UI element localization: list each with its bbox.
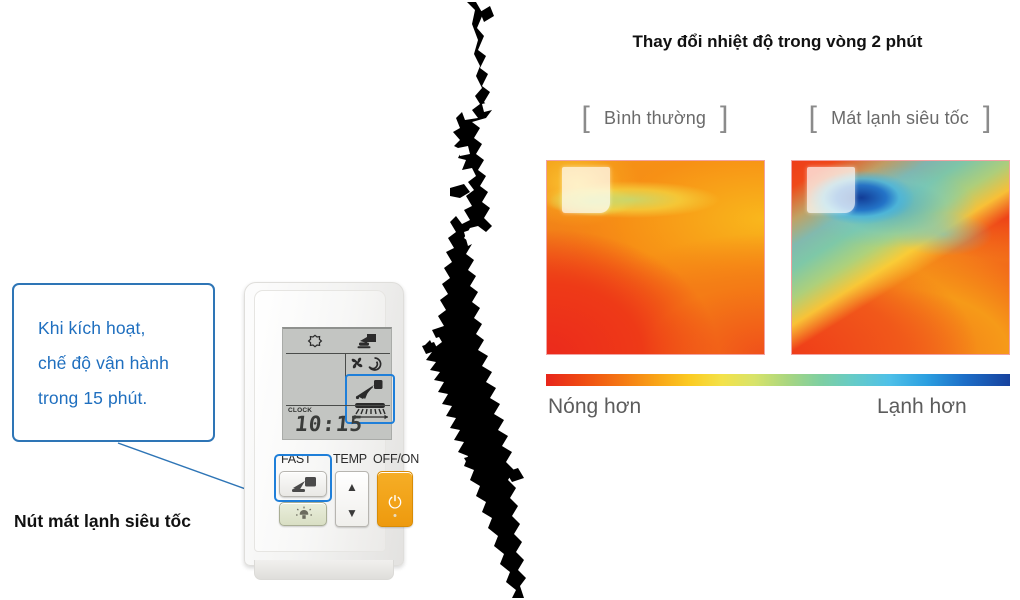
- temp-button[interactable]: ▲ ▼: [335, 471, 369, 527]
- bracket-right-icon: ]: [983, 103, 991, 133]
- snowflake-cool-icon: [307, 334, 323, 350]
- heatmap-fastcool: [791, 160, 1010, 355]
- temp-label: TEMP: [333, 452, 367, 466]
- colorbar-label-cold: Lạnh hơn: [877, 395, 967, 419]
- callout-line-2: chế độ vận hành: [38, 346, 213, 381]
- temp-up-arrow[interactable]: ▲: [346, 480, 358, 494]
- bracket-right-icon: ]: [720, 103, 728, 133]
- heatmap-caption-normal: [ Bình thường ]: [541, 101, 769, 135]
- power-button[interactable]: ⏻: [377, 471, 413, 527]
- lcd-divider-bottom: [286, 405, 390, 406]
- lcd-display: CLOCK 10:15: [282, 327, 392, 440]
- lcd-divider-top: [286, 353, 390, 354]
- power-indicator-dot: [394, 514, 397, 517]
- light-button[interactable]: [279, 502, 327, 526]
- projector-airflow-icon: [357, 333, 377, 350]
- remote-faceplate: CLOCK 10:15 FAST TEMP OFF/ON: [254, 290, 386, 552]
- lamp-icon: [295, 506, 313, 524]
- powerful-airflow-icon: [355, 379, 385, 401]
- remote-control: CLOCK 10:15 FAST TEMP OFF/ON: [240, 282, 408, 582]
- heatmap-normal: [546, 160, 765, 355]
- bracket-left-icon: [: [582, 103, 590, 133]
- callout-line-3: trong 15 phút.: [38, 381, 213, 416]
- swirl-icon: [367, 357, 382, 371]
- infographic-canvas: Khi kích hoạt, chế độ vận hành trong 15 …: [0, 0, 1020, 600]
- callout-line-1: Khi kích hoạt,: [38, 311, 213, 346]
- fan-icon: [349, 356, 365, 370]
- heatmap-caption-fastcool-text: Mát lạnh siêu tốc: [831, 108, 969, 129]
- ac-unit-marker-normal: [562, 167, 610, 213]
- callout-box: Khi kích hoạt, chế độ vận hành trong 15 …: [12, 283, 215, 442]
- fast-cool-icon: [291, 476, 317, 494]
- temp-down-arrow[interactable]: ▼: [346, 506, 358, 520]
- power-label: OFF/ON: [373, 452, 419, 466]
- colorbar-label-hot: Nóng hơn: [548, 395, 641, 419]
- bracket-left-icon: [: [809, 103, 817, 133]
- heatmap-caption-fastcool: [ Mát lạnh siêu tốc ]: [786, 101, 1014, 135]
- ac-unit-marker-fastcool: [807, 167, 855, 213]
- heatmap-section-title: Thay đổi nhiệt độ trong vòng 2 phút: [545, 32, 1010, 52]
- fast-cool-button-label: Nút mát lạnh siêu tốc: [14, 511, 191, 532]
- fast-button[interactable]: [279, 471, 327, 497]
- heatmap-caption-normal-text: Bình thường: [604, 108, 706, 129]
- power-glyph: ⏻: [388, 494, 401, 511]
- clock-value: 10:15: [294, 414, 364, 435]
- remote-base: [254, 560, 394, 580]
- temperature-colorbar: [546, 374, 1010, 386]
